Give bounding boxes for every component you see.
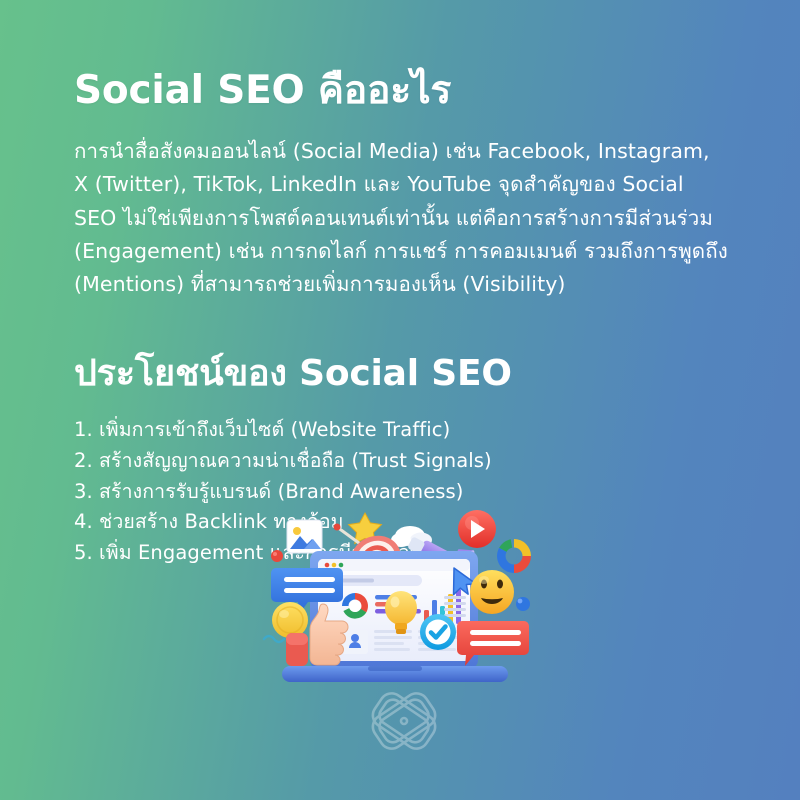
overlapping-cards-logo xyxy=(359,683,449,759)
list-item-number: 3. xyxy=(74,477,99,508)
page-title: Social SEO คืออะไร xyxy=(74,68,734,113)
verified-check-badge xyxy=(420,614,456,650)
chat-bubble-red xyxy=(457,621,529,666)
donut-chart-icon xyxy=(497,539,531,573)
smiley-face-icon xyxy=(470,570,514,614)
list-item-label: สร้างสัญญาณความน่าเชื่อถือ (Trust Signal… xyxy=(99,446,492,477)
gold-coin-icon xyxy=(272,602,308,638)
list-item-number: 2. xyxy=(74,446,99,477)
laptop-base xyxy=(282,666,508,682)
list-item: 1. เพิ่มการเข้าถึงเว็บไซต์ (Website Traf… xyxy=(74,415,734,446)
list-item-number: 5. xyxy=(74,538,99,569)
list-item-label: เพิ่มการเข้าถึงเว็บไซต์ (Website Traffic… xyxy=(99,415,450,446)
blue-sphere xyxy=(516,597,530,611)
list-item: 2. สร้างสัญญาณความน่าเชื่อถือ (Trust Sig… xyxy=(74,446,734,477)
poster-canvas: Social SEO คืออะไร การนำสื่อสังคมออนไลน์… xyxy=(0,0,800,800)
squiggle-decoration xyxy=(264,636,284,642)
intro-paragraph: การนำสื่อสังคมออนไลน์ (Social Media) เช่… xyxy=(74,135,729,301)
list-item-number: 1. xyxy=(74,415,99,446)
social-media-illustration xyxy=(258,496,558,696)
image-placeholder-icon xyxy=(287,520,322,553)
red-sphere xyxy=(271,550,283,562)
benefits-heading: ประโยชน์ของ Social SEO xyxy=(74,353,734,395)
list-item-number: 4. xyxy=(74,507,99,538)
text-content: Social SEO คืออะไร การนำสื่อสังคมออนไลน์… xyxy=(74,68,734,569)
play-button-icon xyxy=(458,510,496,548)
